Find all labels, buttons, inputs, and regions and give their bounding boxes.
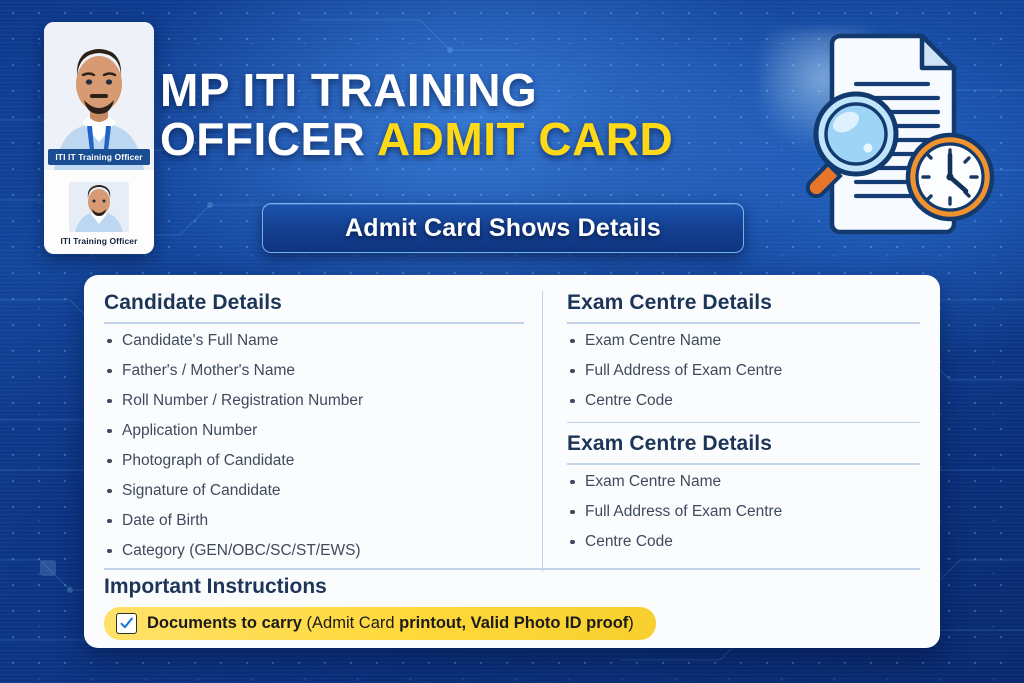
officer-photo-large-caption: ITI IT Training Officer bbox=[48, 149, 150, 166]
clock-icon bbox=[908, 135, 992, 219]
documents-to-carry-text: Documents to carry (Admit Card printout,… bbox=[147, 614, 634, 633]
list-item: Exam Centre Name bbox=[567, 332, 920, 350]
exam-centre-separator bbox=[567, 422, 920, 424]
list-item: Full Address of Exam Centre bbox=[567, 362, 920, 380]
officer-photo-small bbox=[69, 182, 129, 232]
exam-centre-details-heading-1: Exam Centre Details bbox=[567, 291, 920, 315]
exam-centre-list-1: Exam Centre Name Full Address of Exam Ce… bbox=[567, 332, 920, 410]
exam-centre-rule-2 bbox=[567, 463, 920, 465]
list-item: Candidate's Full Name bbox=[104, 332, 524, 350]
poster-root: ITI IT Training Officer ITI Training Off… bbox=[0, 0, 1024, 683]
important-instructions: Important Instructions Documents to carr… bbox=[104, 575, 920, 640]
candidate-details-heading: Candidate Details bbox=[104, 291, 524, 315]
admit-card-illustration bbox=[788, 22, 1008, 240]
exam-centre-list-2: Exam Centre Name Full Address of Exam Ce… bbox=[567, 473, 920, 551]
officer-photo-large: ITI IT Training Officer bbox=[44, 22, 154, 170]
list-item: Date of Birth bbox=[104, 512, 524, 530]
officer-photo-card: ITI IT Training Officer ITI Training Off… bbox=[44, 22, 154, 254]
checkbox-checked-icon bbox=[116, 613, 137, 634]
candidate-details-column: Candidate Details Candidate's Full Name … bbox=[104, 291, 542, 572]
details-card-inner: Candidate Details Candidate's Full Name … bbox=[84, 275, 940, 572]
exam-centre-details-heading-2: Exam Centre Details bbox=[567, 432, 920, 456]
instructions-separator bbox=[104, 568, 920, 570]
list-item: Father's / Mother's Name bbox=[104, 362, 524, 380]
subtitle-banner-label: Admit Card Shows Details bbox=[345, 214, 661, 243]
documents-bold-1: Documents to carry bbox=[147, 614, 307, 632]
person-photo-small-icon bbox=[69, 182, 129, 232]
list-item: Signature of Candidate bbox=[104, 482, 524, 500]
list-item: Full Address of Exam Centre bbox=[567, 503, 920, 521]
list-item: Centre Code bbox=[567, 533, 920, 551]
page-title: MP ITI TRAINING OFFICER ADMIT CARD bbox=[160, 66, 780, 164]
documents-plain-2: ) bbox=[628, 614, 634, 632]
exam-centre-rule-1 bbox=[567, 322, 920, 324]
candidate-details-rule bbox=[104, 322, 524, 324]
list-item: Exam Centre Name bbox=[567, 473, 920, 491]
check-mark-icon bbox=[120, 617, 133, 630]
officer-photo-small-wrap: ITI Training Officer bbox=[44, 170, 154, 254]
page-title-highlight: ADMIT CARD bbox=[377, 113, 673, 165]
candidate-details-list: Candidate's Full Name Father's / Mother'… bbox=[104, 332, 524, 560]
documents-plain-1: (Admit Card bbox=[307, 614, 400, 632]
exam-centre-details-column: Exam Centre Details Exam Centre Name Ful… bbox=[542, 291, 920, 572]
page-title-plain: OFFICER bbox=[160, 113, 377, 165]
list-item: Centre Code bbox=[567, 392, 920, 410]
documents-to-carry-row: Documents to carry (Admit Card printout,… bbox=[104, 607, 656, 640]
list-item: Photograph of Candidate bbox=[104, 452, 524, 470]
details-columns: Candidate Details Candidate's Full Name … bbox=[104, 291, 920, 572]
page-title-line1: MP ITI TRAINING bbox=[160, 66, 780, 115]
list-item: Roll Number / Registration Number bbox=[104, 392, 524, 410]
documents-bold-2: printout, Valid Photo ID proof bbox=[399, 614, 628, 632]
important-instructions-heading: Important Instructions bbox=[104, 575, 920, 599]
list-item: Category (GEN/OBC/SC/ST/EWS) bbox=[104, 542, 524, 560]
page-title-line2: OFFICER ADMIT CARD bbox=[160, 115, 780, 164]
officer-photo-small-caption: ITI Training Officer bbox=[60, 236, 137, 246]
list-item: Application Number bbox=[104, 422, 524, 440]
subtitle-banner: Admit Card Shows Details bbox=[262, 203, 744, 253]
details-card: Candidate Details Candidate's Full Name … bbox=[84, 275, 940, 648]
person-photo-icon bbox=[44, 22, 154, 170]
